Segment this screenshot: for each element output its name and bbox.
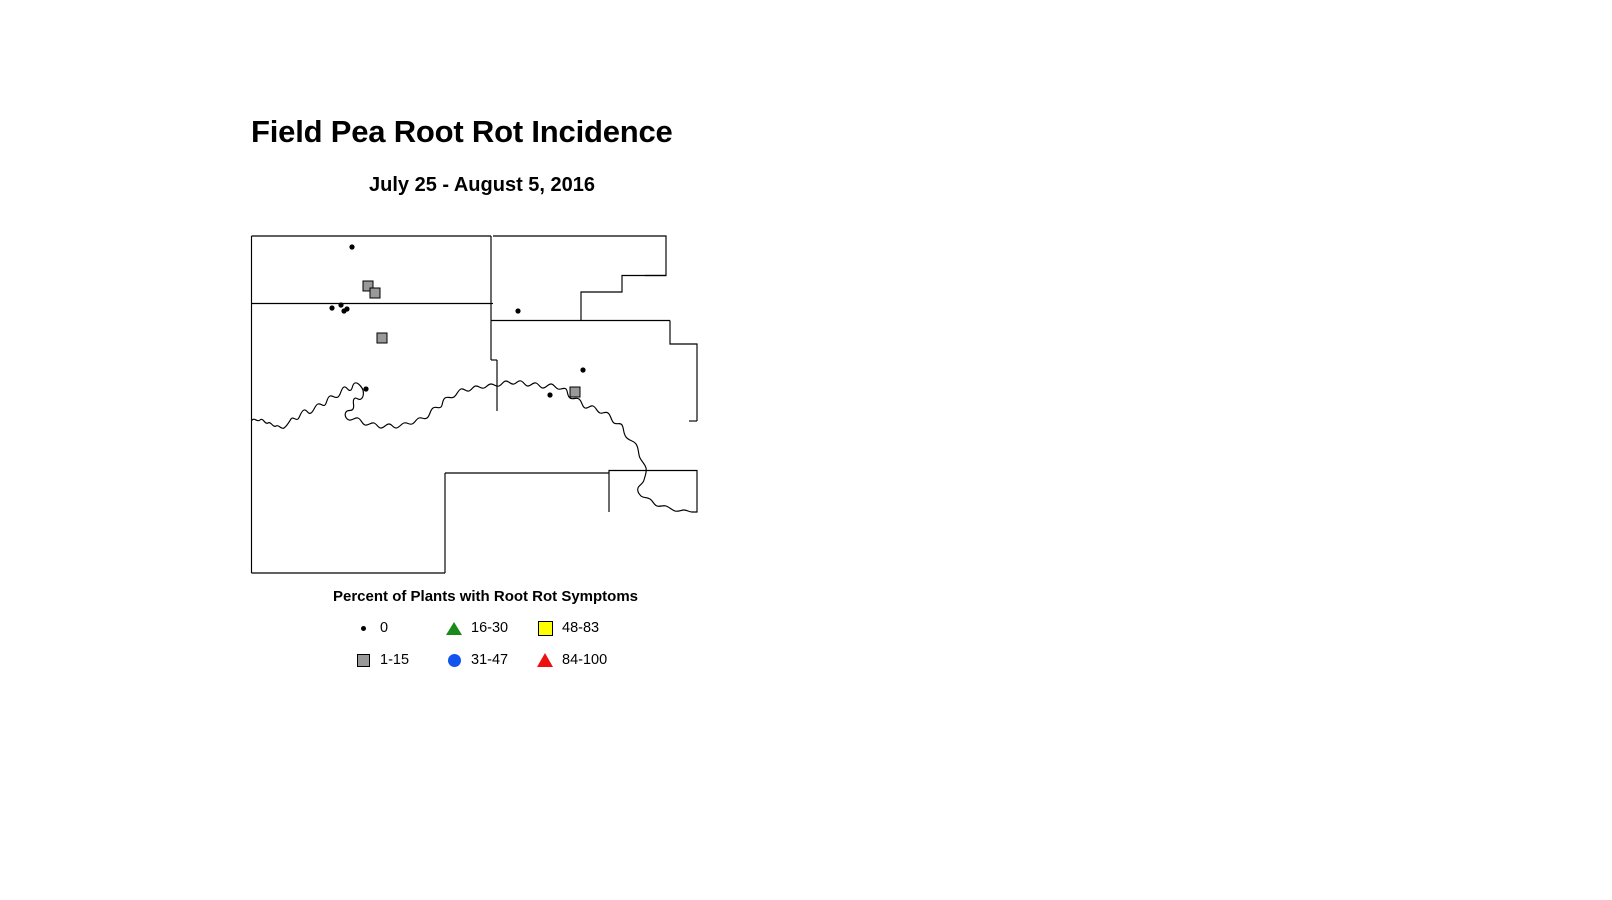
- map-boundaries: [252, 236, 698, 573]
- data-point-dot[interactable]: [344, 306, 349, 311]
- data-point-dot[interactable]: [515, 308, 520, 313]
- legend-row: 0 16-30 48-83: [352, 612, 672, 644]
- boundary-river-tail: [638, 480, 692, 512]
- boundary-ne-county: [493, 236, 666, 321]
- green-triangle-icon: [443, 622, 465, 635]
- legend-label: 84-100: [562, 652, 607, 668]
- legend-row: 1-15 31-47 84-100: [352, 644, 672, 676]
- data-point-dot[interactable]: [547, 392, 552, 397]
- map-svg[interactable]: [245, 225, 715, 585]
- black-dot-icon: [352, 626, 374, 631]
- legend-label: 0: [380, 620, 388, 636]
- legend-label: 48-83: [562, 620, 599, 636]
- data-point-dot[interactable]: [338, 302, 343, 307]
- legend-label: 1-15: [380, 652, 409, 668]
- date-range-subtitle: July 25 - August 5, 2016: [369, 174, 595, 197]
- legend-item-48-83[interactable]: 48-83: [534, 620, 625, 636]
- legend-title: Percent of Plants with Root Rot Symptoms: [333, 588, 638, 605]
- legend-label: 31-47: [471, 652, 508, 668]
- legend-item-31-47[interactable]: 31-47: [443, 652, 534, 668]
- data-point-square[interactable]: [370, 288, 380, 298]
- page-title: Field Pea Root Rot Incidence: [251, 114, 673, 150]
- gray-square-icon: [352, 654, 374, 667]
- map-figure: Field Pea Root Rot Incidence July 25 - A…: [0, 0, 1612, 900]
- blue-circle-icon: [443, 654, 465, 667]
- legend-item-84-100[interactable]: 84-100: [534, 652, 625, 668]
- data-point-dot[interactable]: [349, 244, 354, 249]
- legend-label: 16-30: [471, 620, 508, 636]
- boundary-se-east: [670, 321, 697, 422]
- boundary-southeast-rect: [609, 471, 697, 513]
- legend-item-0[interactable]: 0: [352, 620, 443, 636]
- data-point-dot[interactable]: [363, 386, 368, 391]
- red-triangle-icon: [534, 653, 556, 667]
- legend: 0 16-30 48-83 1-15 31-47 84-100: [352, 612, 672, 676]
- yellow-square-icon: [534, 621, 556, 636]
- boundary-river: [252, 381, 647, 480]
- data-point-dot[interactable]: [329, 305, 334, 310]
- legend-item-16-30[interactable]: 16-30: [443, 620, 534, 636]
- county-map[interactable]: [245, 225, 715, 585]
- legend-item-1-15[interactable]: 1-15: [352, 652, 443, 668]
- data-point-square[interactable]: [570, 387, 580, 397]
- data-point-square[interactable]: [377, 333, 387, 343]
- data-point-dot[interactable]: [580, 367, 585, 372]
